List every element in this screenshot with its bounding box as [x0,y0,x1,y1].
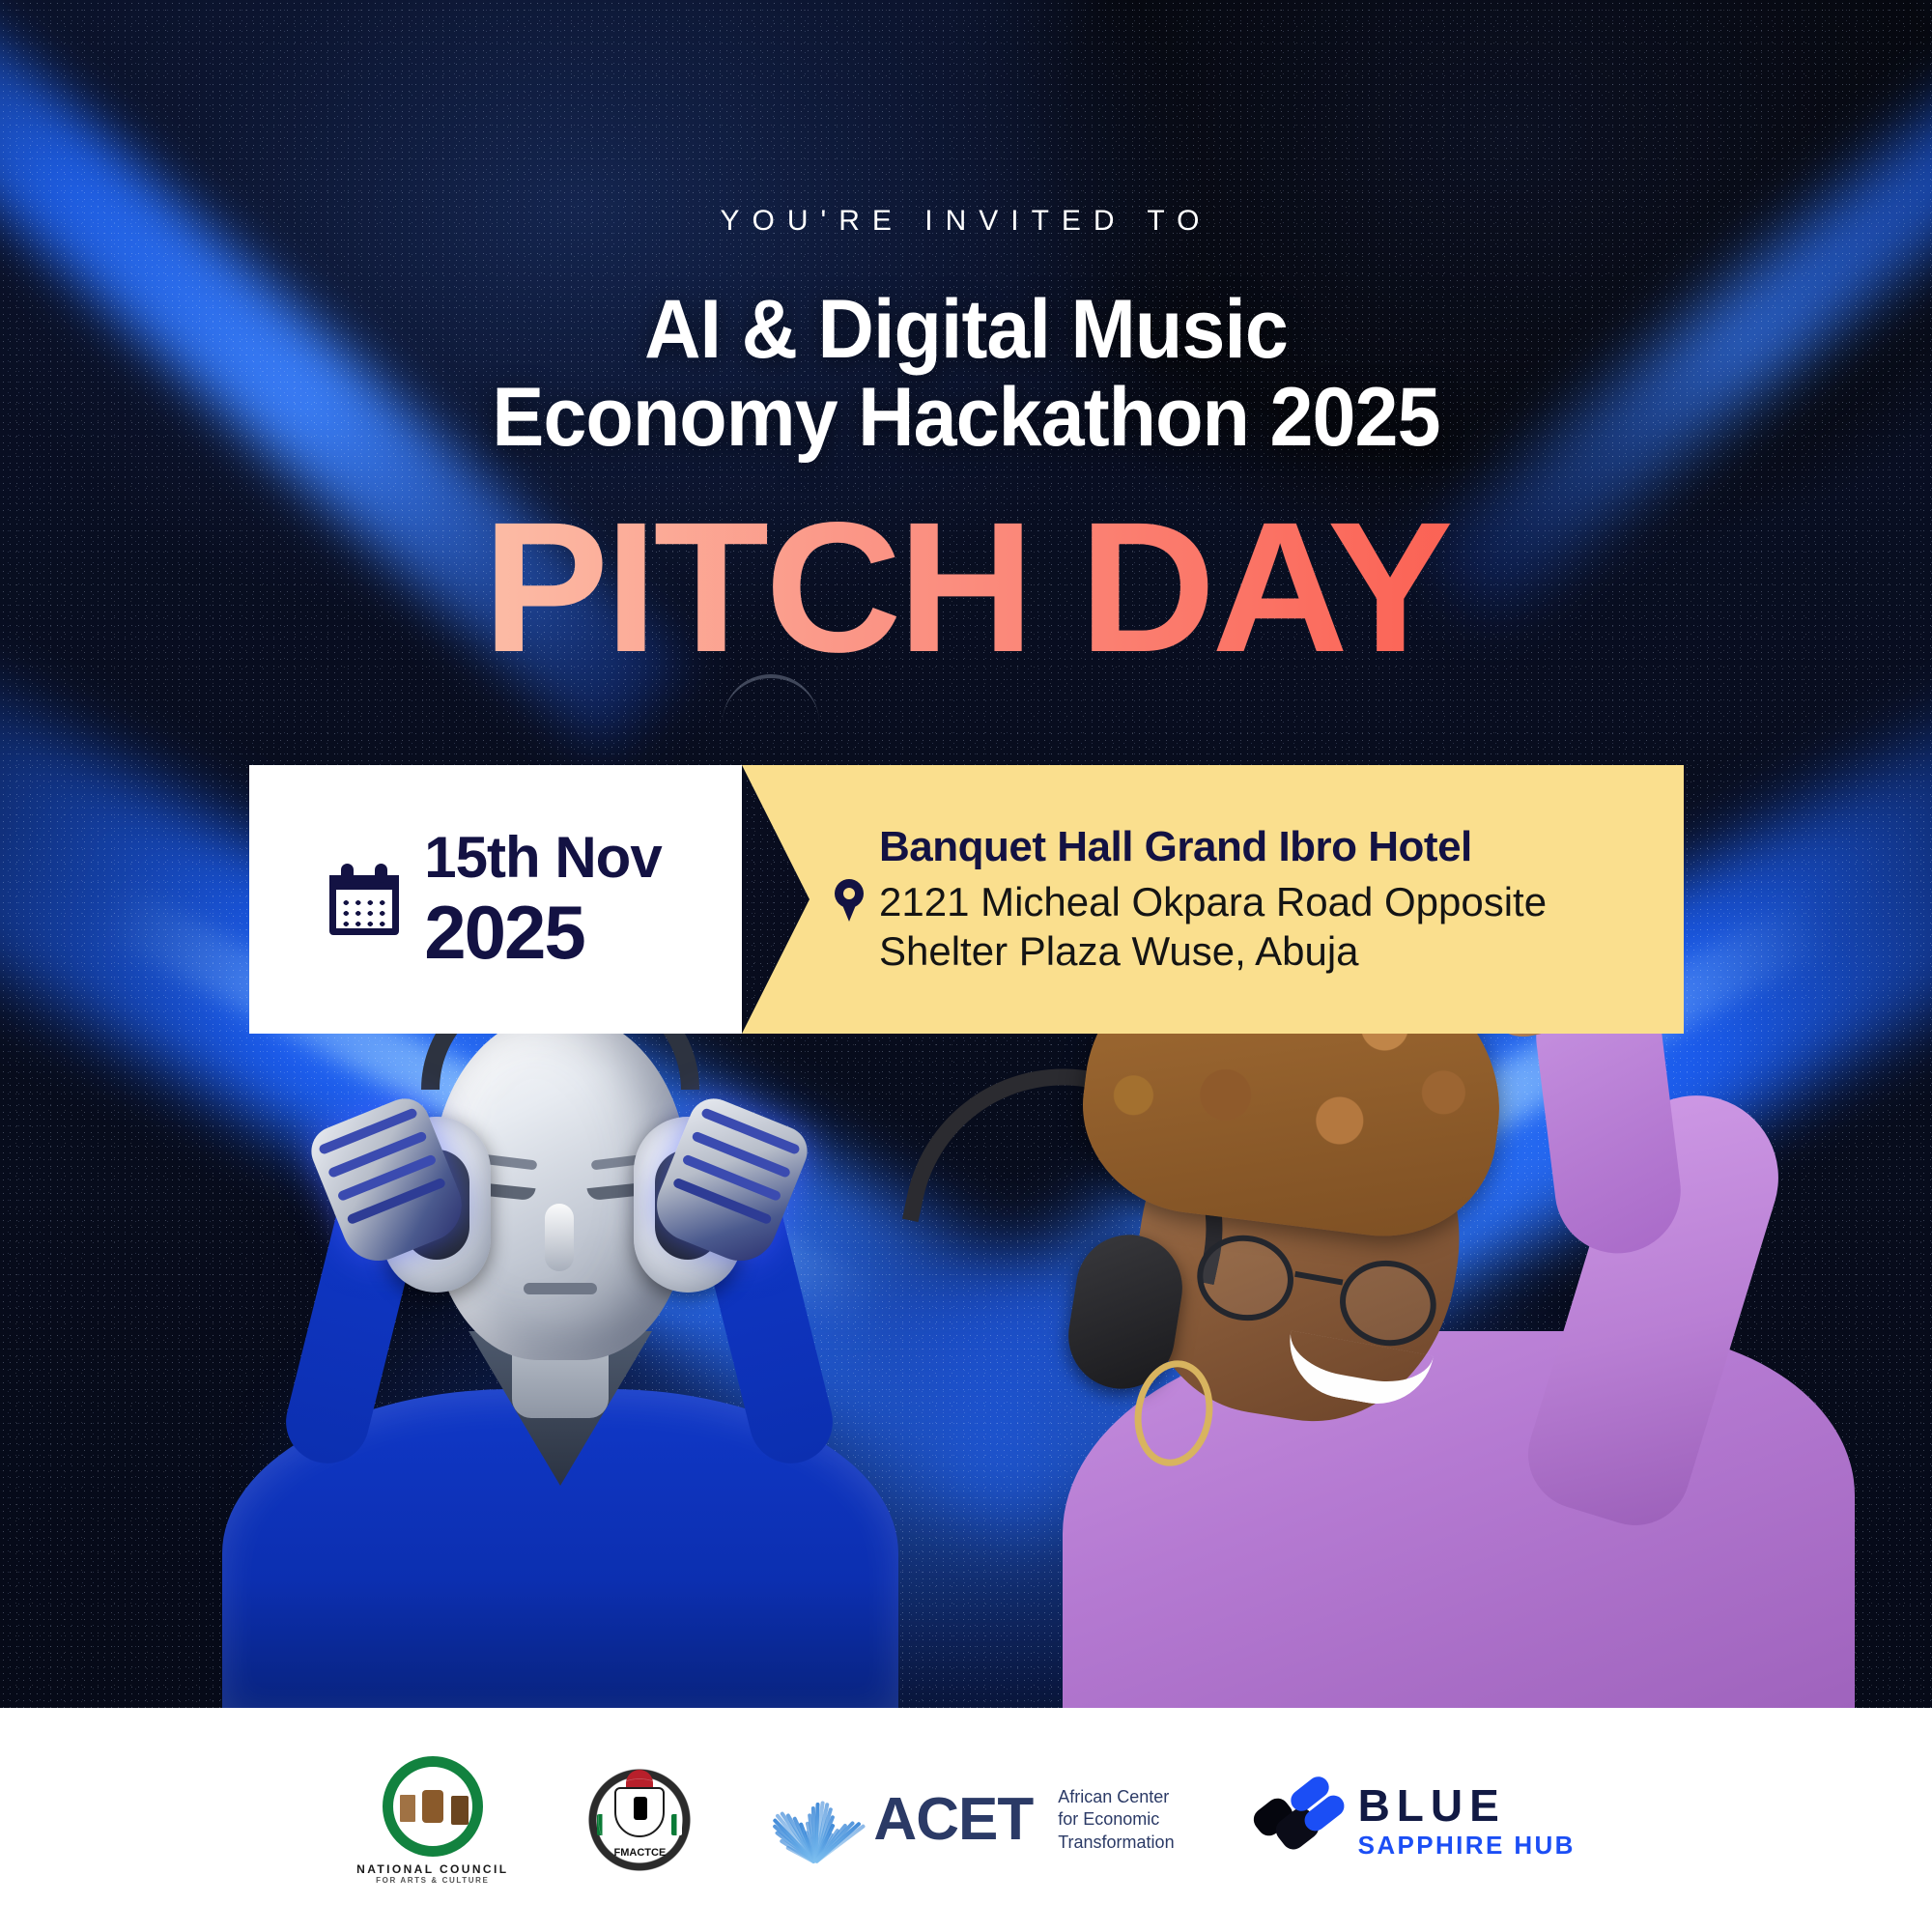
blue-sapphire-hub-logo: BLUE SAPPHIRE HUB [1252,1781,1576,1859]
calendar-ring-right [375,864,387,883]
fmactce-flag-right-icon [671,1814,682,1835]
fmactce-logo: FMACTCE [585,1766,694,1874]
location-pin-icon [835,879,864,922]
fmactce-crest-icon [626,1770,653,1787]
ncac-name-line-1: NATIONAL COUNCIL [356,1862,508,1876]
ncac-name-line-2: FOR ARTS & CULTURE [356,1876,508,1885]
blue-sapphire-wordmark: BLUE SAPPHIRE HUB [1358,1783,1576,1858]
acet-africa-burst-icon [771,1770,860,1870]
event-poster: YOU'RE INVITED TO AI & Digital Music Eco… [0,0,1932,1932]
glasses-bridge [1294,1271,1343,1286]
fmactce-coat-of-arms-icon [614,1787,665,1837]
calendar-ring-left [341,864,354,883]
venue-address-line-1: 2121 Micheal Okpara Road Opposite [879,877,1645,926]
event-venue-panel: Banquet Hall Grand Ibro Hotel 2121 Miche… [742,765,1684,1034]
blue-sapphire-word-top: BLUE [1358,1783,1576,1828]
sponsor-logo-strip: NATIONAL COUNCIL FOR ARTS & CULTURE FMAC… [0,1708,1932,1932]
event-date-day: 15th Nov [424,829,661,887]
blue-sapphire-word-bottom: SAPPHIRE HUB [1358,1833,1576,1858]
pitch-day-headline: PITCH DAY [0,495,1932,680]
event-info-bar: 15th Nov 2025 Banquet Hall Grand Ibro Ho… [249,765,1684,1034]
acet-tagline-line-2: for Economic [1058,1808,1174,1831]
glasses-lens-right [1333,1253,1443,1353]
event-date-year: 2025 [424,895,661,970]
fmactce-acronym: FMACTCE [585,1847,694,1859]
blue-sapphire-bars-icon [1252,1781,1345,1859]
event-date-panel: 15th Nov 2025 [249,765,742,1034]
venue-name: Banquet Hall Grand Ibro Hotel [879,823,1645,871]
glasses-lens-left [1190,1228,1300,1328]
acet-tagline-line-3: Transformation [1058,1832,1174,1854]
event-title-line-2: Economy Hackathon 2025 [58,374,1874,462]
calendar-icon [329,864,399,935]
ncac-caption: NATIONAL COUNCIL FOR ARTS & CULTURE [356,1862,508,1885]
pin-tip [840,900,858,922]
invitation-kicker: YOU'RE INVITED TO [0,205,1932,238]
robot-mouth [524,1283,597,1294]
acet-logo: ACET African Center for Economic Transfo… [771,1770,1174,1870]
fmactce-seal-icon: FMACTCE [585,1766,694,1874]
robot-nose [545,1204,574,1271]
acet-wordmark: ACET [873,1790,1033,1850]
venue-address: 2121 Micheal Okpara Road Opposite Shelte… [879,877,1645,976]
event-title: AI & Digital Music Economy Hackathon 202… [58,286,1874,462]
ncac-drum-icon [422,1790,443,1823]
ncac-seal-icon [383,1756,483,1857]
event-date: 15th Nov 2025 [424,829,661,970]
ncac-logo: NATIONAL COUNCIL FOR ARTS & CULTURE [356,1756,508,1885]
venue-address-line-2: Shelter Plaza Wuse, Abuja [879,926,1645,976]
acet-tagline-line-1: African Center [1058,1786,1174,1808]
event-title-line-1: AI & Digital Music [58,286,1874,374]
calendar-header [329,875,399,890]
calendar-grid [340,897,388,926]
fmactce-flag-left-icon [597,1814,608,1835]
acet-tagline: African Center for Economic Transformati… [1058,1786,1174,1853]
